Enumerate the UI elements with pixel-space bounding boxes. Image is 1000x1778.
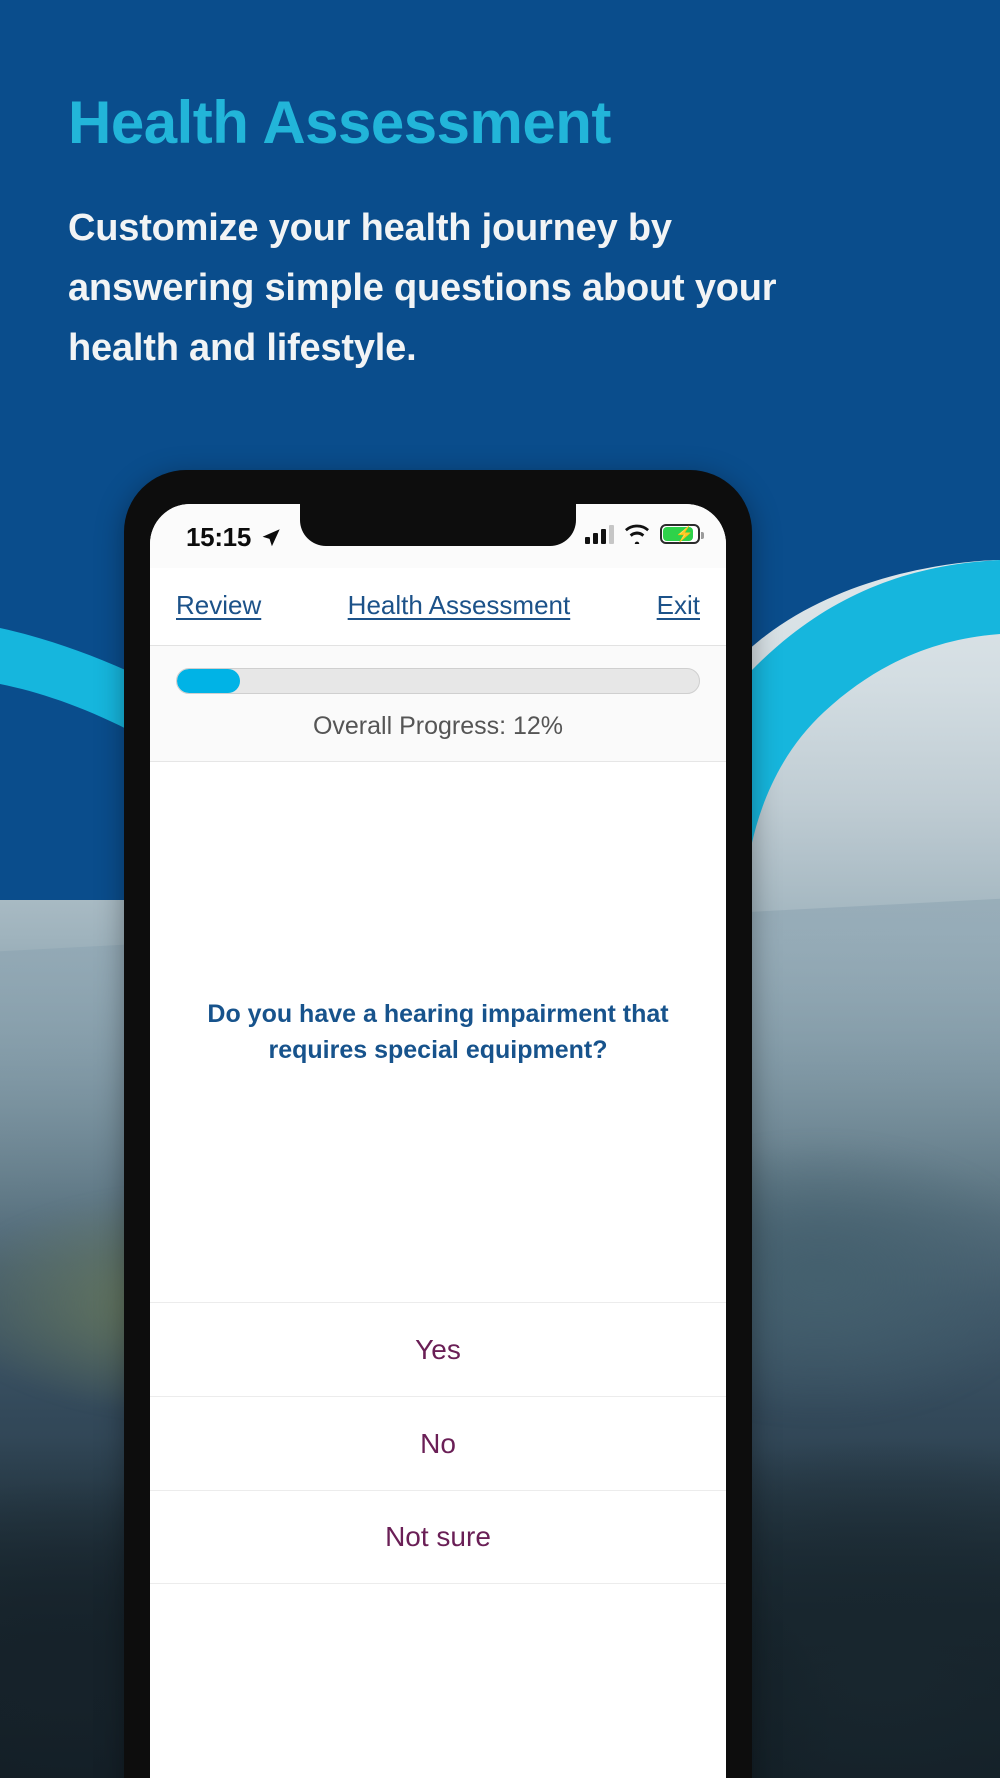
cellular-signal-icon (585, 524, 614, 544)
battery-charging-icon: ⚡ (660, 524, 700, 544)
app-nav-bar: Review Health Assessment Exit (150, 568, 726, 646)
answer-option[interactable]: Yes (150, 1302, 726, 1396)
phone-mockup: 15:15 ⚡ (124, 470, 752, 1778)
progress-bar-fill (177, 669, 240, 693)
phone-screen: 15:15 ⚡ (150, 504, 726, 1778)
status-bar-time-group: 15:15 (186, 522, 282, 553)
app-store-promo-screenshot: Health Assessment Customize your health … (0, 0, 1000, 1778)
status-bar: 15:15 ⚡ (150, 504, 726, 568)
wifi-icon (624, 524, 650, 544)
progress-section: Overall Progress: 12% (150, 646, 726, 762)
page-subtitle: Customize your health journey by answeri… (68, 198, 858, 378)
phone-notch (300, 504, 576, 546)
question-section: Do you have a hearing impairment that re… (150, 762, 726, 1302)
review-link[interactable]: Review (176, 590, 261, 621)
page-title: Health Assessment (68, 88, 611, 157)
question-text: Do you have a hearing impairment that re… (203, 996, 673, 1069)
answer-options-list: YesNoNot sure (150, 1302, 726, 1584)
answer-option[interactable]: Not sure (150, 1490, 726, 1584)
status-bar-indicators: ⚡ (585, 524, 700, 544)
exit-link[interactable]: Exit (657, 590, 700, 621)
charging-bolt-icon: ⚡ (675, 527, 694, 543)
progress-label: Overall Progress: 12% (176, 712, 700, 741)
location-arrow-icon (260, 527, 282, 549)
answer-option[interactable]: No (150, 1396, 726, 1490)
status-bar-time: 15:15 (186, 522, 251, 553)
progress-bar-track (176, 668, 700, 694)
app-screen-title[interactable]: Health Assessment (348, 590, 571, 621)
